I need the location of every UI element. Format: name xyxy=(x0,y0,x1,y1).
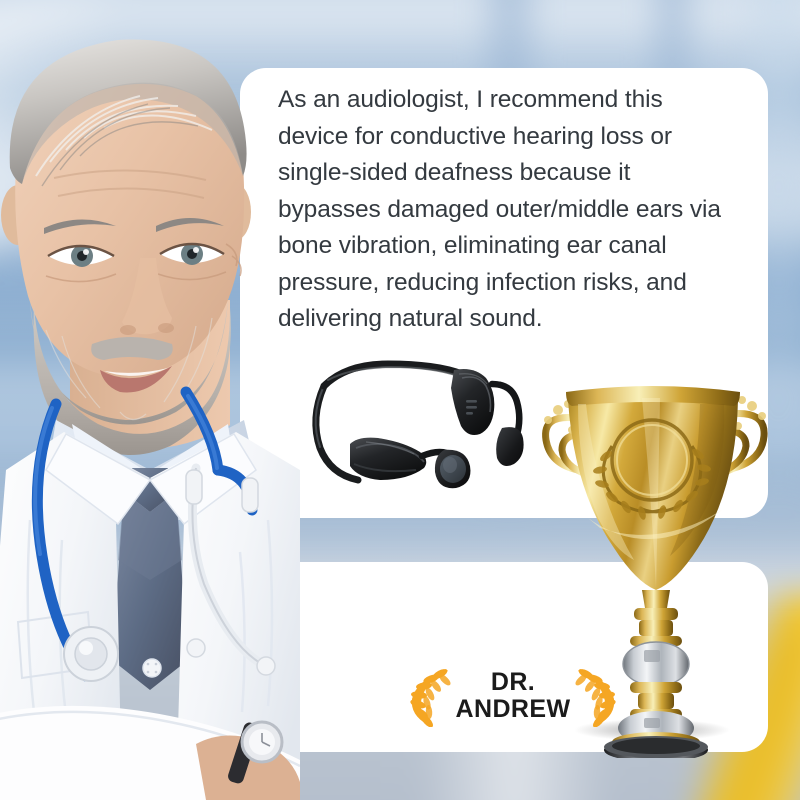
doctor-title: DR. xyxy=(456,669,571,696)
audiologist-portrait xyxy=(0,0,300,800)
testimonial-quote: As an audiologist, I recommend this devi… xyxy=(278,82,738,338)
doctor-name-badge: DR. ANDREW xyxy=(398,658,628,734)
laurel-left-icon xyxy=(406,665,452,727)
laurel-right-icon xyxy=(574,665,620,727)
bone-conduction-headphones-image xyxy=(296,352,532,492)
doctor-name: DR. ANDREW xyxy=(456,669,571,723)
doctor-firstname: ANDREW xyxy=(456,696,571,723)
